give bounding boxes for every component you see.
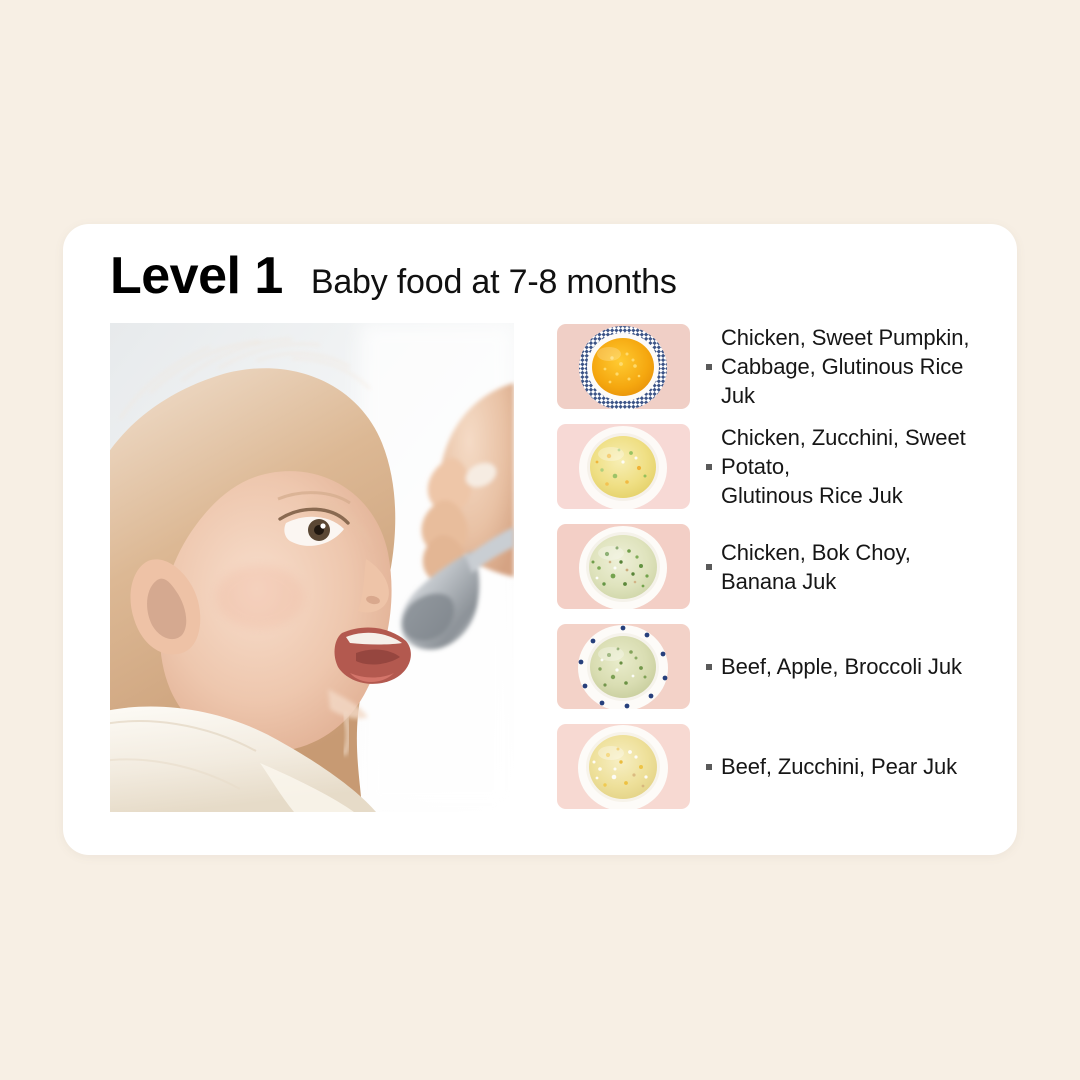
baby-feeding-photo (110, 323, 514, 812)
list-item-label: Chicken, Sweet Pumpkin, Cabbage, Glutino… (721, 323, 977, 410)
bullet-marker (706, 464, 712, 470)
bullet-marker (706, 664, 712, 670)
list-item[interactable]: Chicken, Zucchini, Sweet Potato, Glutino… (557, 424, 977, 509)
level-card: Level 1 Baby food at 7-8 months (63, 224, 1017, 855)
list-item[interactable]: Beef, Apple, Broccoli Juk (557, 624, 977, 709)
chicken-bok-choy-banana-juk-thumbnail (557, 524, 690, 609)
list-item[interactable]: Chicken, Sweet Pumpkin, Cabbage, Glutino… (557, 324, 977, 409)
bullet-marker (706, 564, 712, 570)
list-item[interactable]: Chicken, Bok Choy, Banana Juk (557, 524, 977, 609)
beef-zucchini-pear-juk-thumbnail (557, 724, 690, 809)
list-item-label: Beef, Apple, Broccoli Juk (721, 652, 962, 681)
card-header: Level 1 Baby food at 7-8 months (110, 250, 970, 320)
page-subtitle: Baby food at 7-8 months (311, 265, 677, 299)
bullet-marker (706, 764, 712, 770)
chicken-zucchini-sweet-potato-juk-thumbnail (557, 424, 690, 509)
chicken-sweet-pumpkin-cabbage-juk-thumbnail (557, 324, 690, 409)
list-item-label: Beef, Zucchini, Pear Juk (721, 752, 957, 781)
list-item[interactable]: Beef, Zucchini, Pear Juk (557, 724, 977, 809)
list-item-label: Chicken, Zucchini, Sweet Potato, Glutino… (721, 423, 977, 510)
page-title: Level 1 (110, 250, 283, 302)
menu-list: Chicken, Sweet Pumpkin, Cabbage, Glutino… (557, 324, 977, 809)
list-item-label: Chicken, Bok Choy, Banana Juk (721, 538, 911, 596)
beef-apple-broccoli-juk-thumbnail (557, 624, 690, 709)
bullet-marker (706, 364, 712, 370)
